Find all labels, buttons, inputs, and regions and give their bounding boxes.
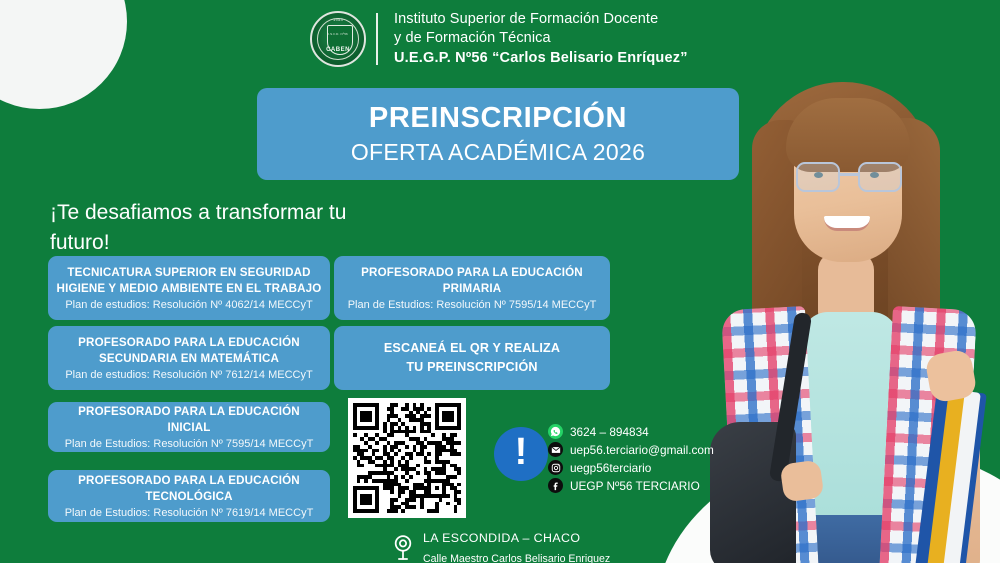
course-plan: Plan de Estudios: Resolución Nº 7619/14 … bbox=[65, 507, 314, 519]
contact-row-whatsapp[interactable]: 3624 – 894834 bbox=[548, 424, 714, 439]
facebook-icon bbox=[548, 478, 563, 493]
course-card-inicial[interactable]: PROFESORADO PARA LA EDUCACIÓN INICIAL Pl… bbox=[48, 402, 330, 452]
contact-value: UEGP Nº56 TERCIARIO bbox=[570, 479, 700, 493]
photo-glasses-bridge bbox=[840, 173, 858, 176]
crest-abbr: CABEN bbox=[312, 47, 364, 53]
course-title: TECNICATURA SUPERIOR EN SEGURIDAD HIGIEN… bbox=[56, 265, 322, 297]
course-title: PROFESORADO PARA LA EDUCACIÓN SECUNDARIA… bbox=[56, 335, 322, 367]
location-block: LA ESCONDIDA – CHACO Calle Maestro Carlo… bbox=[392, 528, 610, 563]
course-card-tecnologica[interactable]: PROFESORADO PARA LA EDUCACIÓN TECNOLÓGIC… bbox=[48, 470, 330, 522]
course-title: PROFESORADO PARA LA EDUCACIÓN PRIMARIA bbox=[342, 265, 602, 297]
photo-hair-front bbox=[786, 98, 910, 172]
course-card-seguridad-higiene[interactable]: TECNICATURA SUPERIOR EN SEGURIDAD HIGIEN… bbox=[48, 256, 330, 320]
map-pin-icon bbox=[392, 534, 414, 562]
course-plan: Plan de Estudios: Resolución Nº 7595/14 … bbox=[65, 438, 314, 450]
course-plan: Plan de estudios: Resolución Nº 4062/14 … bbox=[65, 299, 312, 311]
contact-value: uegp56terciario bbox=[570, 461, 651, 475]
attention-badge-icon: ! bbox=[494, 427, 548, 481]
title-card: PREINSCRIPCIÓN OFERTA ACADÉMICA 2026 bbox=[257, 88, 739, 180]
contact-list: 3624 – 894834 uep56.terciario@gmail.com … bbox=[548, 424, 714, 493]
qr-cta-card[interactable]: ESCANEÁ EL QR Y REALIZA TU PREINSCRIPCIÓ… bbox=[334, 326, 610, 390]
crest-mini-text: I.S.F.D. Nº56 bbox=[312, 32, 364, 36]
course-title: PROFESORADO PARA LA EDUCACIÓN TECNOLÓGIC… bbox=[56, 473, 322, 505]
header-line-2: y de Formación Técnica bbox=[394, 29, 688, 48]
instagram-icon bbox=[548, 460, 563, 475]
institution-crest-icon: 1953 I.S.F.D. Nº56 CABEN bbox=[310, 11, 366, 67]
institution-header: 1953 I.S.F.D. Nº56 CABEN Instituto Super… bbox=[310, 10, 688, 68]
cta-line-2: TU PREINSCRIPCIÓN bbox=[406, 358, 537, 377]
photo-lens-left bbox=[796, 162, 840, 192]
photo-lens-right bbox=[858, 162, 902, 192]
tagline: ¡Te desafiamos a transformar tu futuro! bbox=[50, 198, 350, 259]
crest-year: 1953 bbox=[312, 17, 364, 22]
whatsapp-icon bbox=[548, 424, 563, 439]
course-card-primaria[interactable]: PROFESORADO PARA LA EDUCACIÓN PRIMARIA P… bbox=[334, 256, 610, 320]
photo-glasses bbox=[796, 162, 902, 194]
contact-row-facebook[interactable]: UEGP Nº56 TERCIARIO bbox=[548, 478, 714, 493]
preinscription-poster: 1953 I.S.F.D. Nº56 CABEN Instituto Super… bbox=[0, 0, 1000, 563]
course-plan: Plan de Estudios: Resolución Nº 7595/14 … bbox=[348, 299, 597, 311]
decorative-circle-top-left bbox=[0, 0, 127, 109]
photo-smile bbox=[824, 216, 870, 231]
course-title: PROFESORADO PARA LA EDUCACIÓN INICIAL bbox=[56, 404, 322, 436]
header-text-block: Instituto Superior de Formación Docente … bbox=[388, 10, 688, 68]
cta-line-1: ESCANEÁ EL QR Y REALIZA bbox=[384, 339, 560, 358]
page-subtitle: OFERTA ACADÉMICA 2026 bbox=[351, 139, 645, 166]
header-divider bbox=[376, 13, 378, 65]
qr-code[interactable] bbox=[348, 398, 466, 518]
contact-row-email[interactable]: uep56.terciario@gmail.com bbox=[548, 442, 714, 457]
location-line-1: LA ESCONDIDA – CHACO bbox=[423, 531, 580, 545]
contact-row-instagram[interactable]: uegp56terciario bbox=[548, 460, 714, 475]
attention-badge-symbol: ! bbox=[515, 433, 528, 471]
location-text: LA ESCONDIDA – CHACO Calle Maestro Carlo… bbox=[423, 528, 610, 563]
contact-value: uep56.terciario@gmail.com bbox=[570, 443, 714, 457]
header-line-3: U.E.G.P. Nº56 “Carlos Belisario Enríquez… bbox=[394, 49, 688, 68]
header-line-1: Instituto Superior de Formación Docente bbox=[394, 10, 688, 29]
page-title: PREINSCRIPCIÓN bbox=[369, 102, 627, 135]
location-line-2: Calle Maestro Carlos Belisario Enriquez bbox=[423, 553, 610, 563]
course-card-secundaria-matematica[interactable]: PROFESORADO PARA LA EDUCACIÓN SECUNDARIA… bbox=[48, 326, 330, 390]
qr-code-matrix bbox=[353, 403, 461, 513]
photo-hand-left bbox=[780, 459, 825, 502]
contact-value: 3624 – 894834 bbox=[570, 425, 649, 439]
course-plan: Plan de estudios: Resolución Nº 7612/14 … bbox=[65, 369, 312, 381]
email-icon bbox=[548, 442, 563, 457]
